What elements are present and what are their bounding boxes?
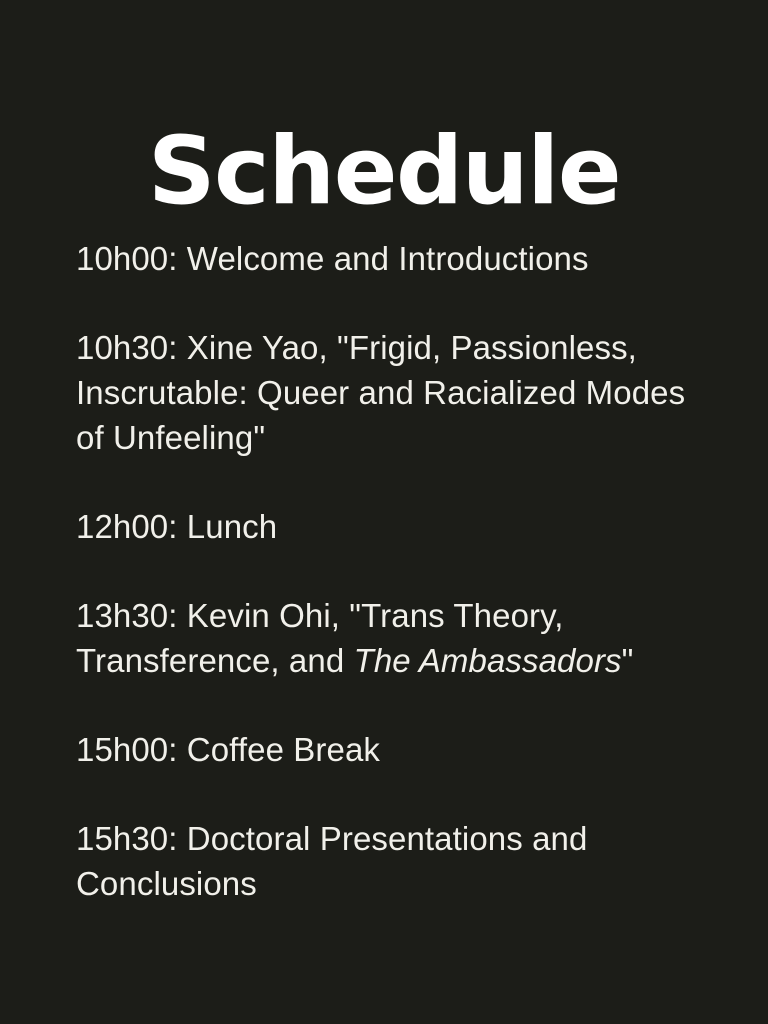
list-item: 12h00: Lunch	[76, 504, 696, 549]
list-item: 15h30: Doctoral Presentations and Conclu…	[76, 816, 696, 906]
list-item: 13h30: Kevin Ohi, "Trans Theory, Transfe…	[76, 593, 696, 683]
schedule-list: 10h00: Welcome and Introductions 10h30: …	[76, 236, 696, 906]
schedule-slide: Schedule 10h00: Welcome and Introduction…	[0, 0, 768, 1024]
list-item: 15h00: Coffee Break	[76, 727, 696, 772]
list-item-text-trail: "	[622, 642, 634, 679]
list-item-work-title: The Ambassadors	[354, 642, 622, 679]
list-item: 10h00: Welcome and Introductions	[76, 236, 696, 281]
page-title: Schedule	[0, 121, 768, 223]
list-item: 10h30: Xine Yao, "Frigid, Passionless, I…	[76, 325, 696, 460]
